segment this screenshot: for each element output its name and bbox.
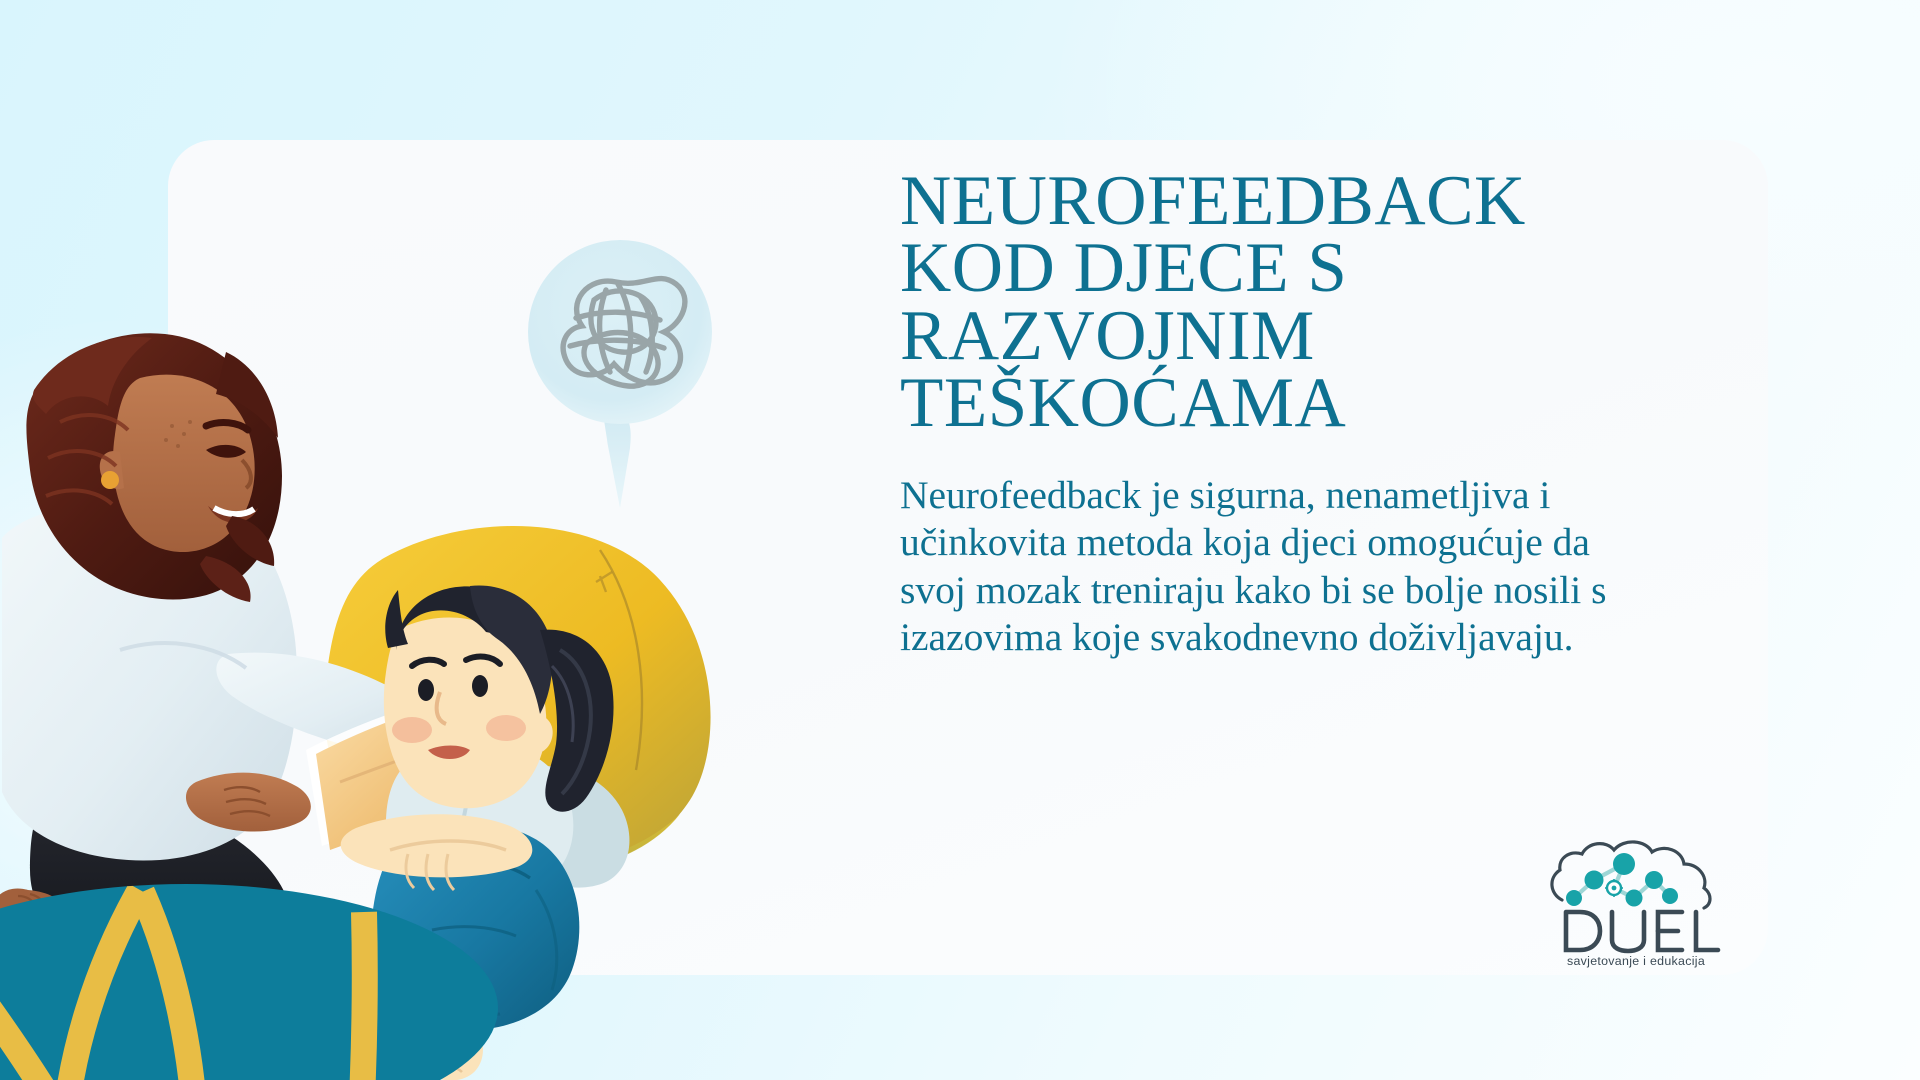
oval-rug — [0, 868, 560, 1080]
text-column: NEUROFEEDBACK KOD DJECE S RAZVOJNIM TEŠK… — [900, 168, 1680, 661]
duel-logo[interactable]: savjetovanje i edukacija — [1536, 828, 1736, 968]
tangled-thought-bubble — [522, 240, 732, 520]
poster-canvas: NEUROFEEDBACK KOD DJECE S RAZVOJNIM TEŠK… — [0, 0, 1920, 1080]
dotted-node-icon — [1605, 879, 1623, 897]
network-nodes-icon — [1566, 853, 1678, 907]
logo-tagline: savjetovanje i edukacija — [1567, 954, 1705, 968]
body-paragraph: Neurofeedback je sigurna, nenametljiva i… — [900, 472, 1640, 662]
page-title: NEUROFEEDBACK KOD DJECE S RAZVOJNIM TEŠK… — [900, 168, 1680, 438]
logo-wordmark — [1566, 912, 1718, 951]
